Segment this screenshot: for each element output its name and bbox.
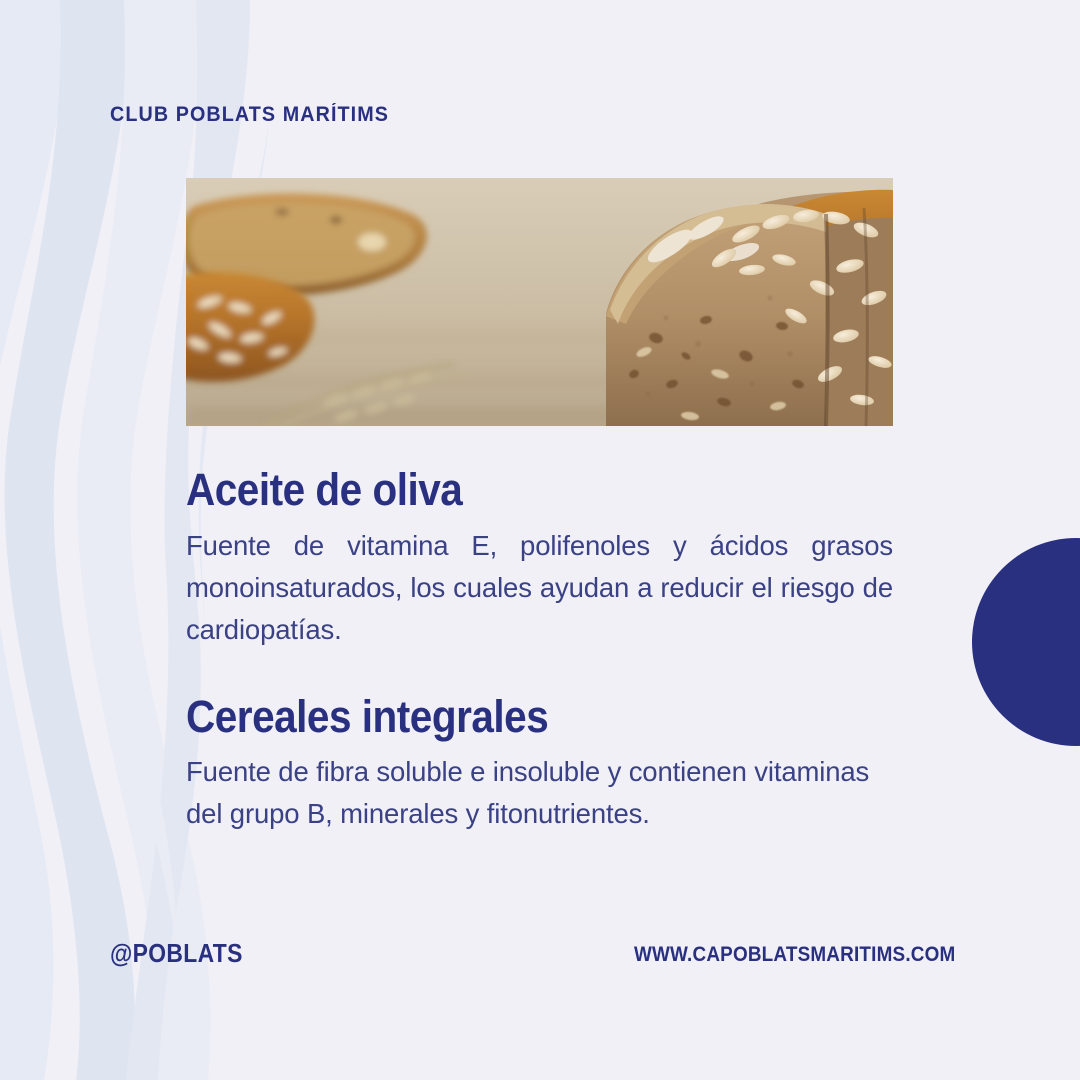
content-sections: Aceite de oliva Fuente de vitamina E, po… xyxy=(186,466,893,835)
poster-canvas: CLUB POBLATS MARÍTIMS xyxy=(0,0,1080,1080)
section-heading: Aceite de oliva xyxy=(186,466,822,514)
section-cereales-integrales: Cereales integrales Fuente de fibra solu… xyxy=(186,693,893,836)
wave-shape-2 xyxy=(5,0,135,1080)
wave-shape-6 xyxy=(97,430,178,960)
section-heading: Cereales integrales xyxy=(186,693,822,741)
hero-image-whole-grain-bread xyxy=(186,178,893,426)
footer-website-url[interactable]: WWW.CAPOBLATSMARITIMS.COM xyxy=(634,943,955,967)
section-body: Fuente de fibra soluble e insoluble y co… xyxy=(186,751,893,835)
accent-circle xyxy=(972,538,1080,746)
brand-title: CLUB POBLATS MARÍTIMS xyxy=(110,103,389,127)
wave-shape-1 xyxy=(0,0,70,1080)
footer-social-handle[interactable]: @POBLATS xyxy=(110,938,243,969)
section-aceite-de-oliva: Aceite de oliva Fuente de vitamina E, po… xyxy=(186,466,893,651)
section-body: Fuente de vitamina E, polifenoles y ácid… xyxy=(186,525,893,651)
